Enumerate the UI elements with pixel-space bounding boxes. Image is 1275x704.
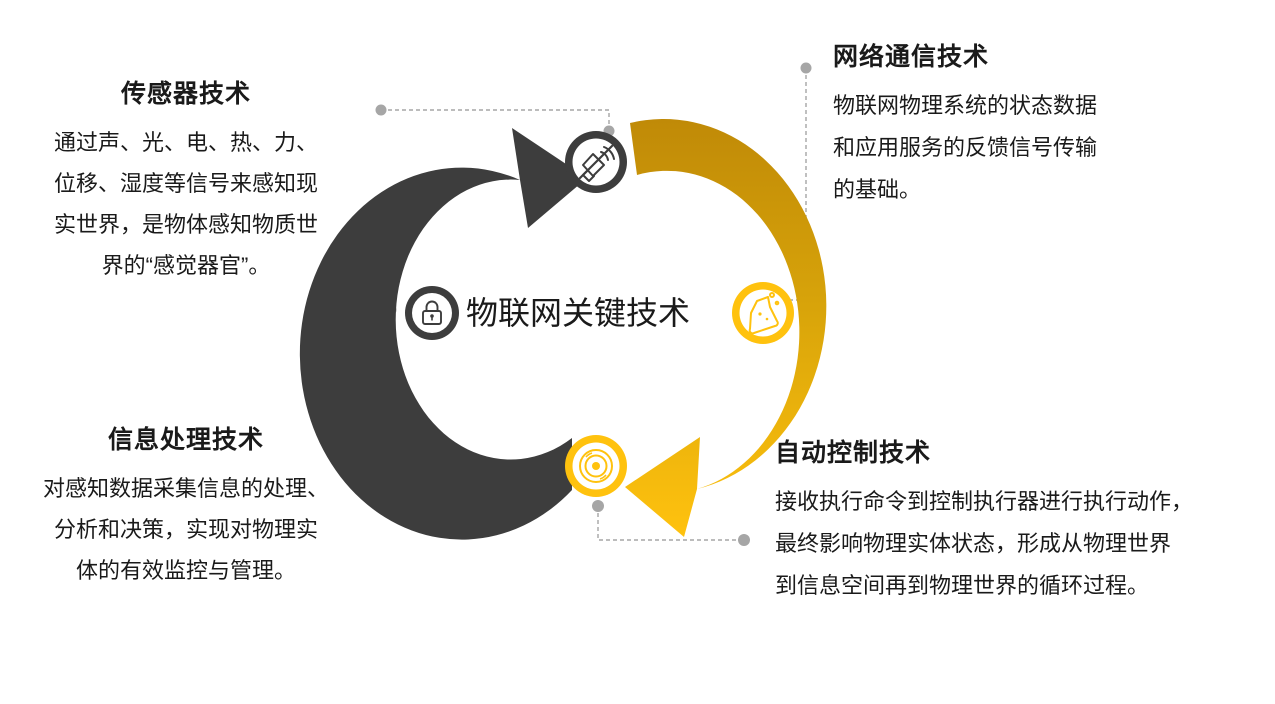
block-network-body: 物联网物理系统的状态数据 和应用服务的反馈信号传输 的基础。: [833, 85, 1233, 211]
text-line: 和应用服务的反馈信号传输: [833, 127, 1233, 169]
block-automation: 自动控制技术 接收执行命令到控制执行器进行执行动作， 最终影响物理实体状态，形成…: [775, 436, 1245, 607]
node-circle-automation[interactable]: [565, 435, 627, 497]
text-line: 对感知数据采集信息的处理、: [0, 468, 372, 509]
block-automation-title: 自动控制技术: [775, 436, 1245, 470]
block-information-body: 对感知数据采集信息的处理、 分析和决策，实现对物理实 体的有效监控与管理。: [0, 468, 372, 591]
text-line: 体的有效监控与管理。: [0, 550, 372, 591]
text-line: 的基础。: [833, 169, 1233, 211]
block-network: 网络通信技术 物联网物理系统的状态数据 和应用服务的反馈信号传输 的基础。: [833, 40, 1233, 211]
block-sensor-body: 通过声、光、电、热、力、 位移、湿度等信号来感知现 实世界，是物体感知物质世 界…: [0, 122, 372, 286]
node-circle-sensor[interactable]: [565, 131, 627, 193]
text-line: 通过声、光、电、热、力、: [0, 122, 372, 163]
connector-dot: [376, 105, 387, 116]
connector-dot: [738, 534, 750, 546]
text-line: 到信息空间再到物理世界的循环过程。: [775, 565, 1245, 607]
connector-dot: [592, 500, 604, 512]
text-line: 物联网物理系统的状态数据: [833, 85, 1233, 127]
connector-sensor: [381, 110, 609, 130]
block-sensor: 传感器技术 通过声、光、电、热、力、 位移、湿度等信号来感知现 实世界，是物体感…: [0, 78, 372, 286]
text-line: 分析和决策，实现对物理实: [0, 509, 372, 550]
block-network-title: 网络通信技术: [833, 40, 1233, 74]
text-line: 最终影响物理实体状态，形成从物理世界: [775, 523, 1245, 565]
node-circle-network[interactable]: [732, 282, 794, 344]
disc-icon: [580, 450, 612, 482]
block-information-title: 信息处理技术: [0, 424, 372, 456]
text-line: 接收执行命令到控制执行器进行执行动作，: [775, 481, 1245, 523]
text-line: 位移、湿度等信号来感知现: [0, 163, 372, 204]
center-title: 物联网关键技术: [466, 290, 690, 336]
node-circle-center[interactable]: [405, 286, 459, 340]
text-line: 界的“感觉器官”。: [0, 245, 372, 286]
text-line: 实世界，是物体感知物质世: [0, 204, 372, 245]
connector-dot: [801, 63, 812, 74]
block-sensor-title: 传感器技术: [0, 78, 372, 110]
block-automation-body: 接收执行命令到控制执行器进行执行动作， 最终影响物理实体状态，形成从物理世界 到…: [775, 481, 1245, 607]
diagram-canvas: 物联网关键技术 传感器技术 通过声、光、电、热、力、 位移、湿度等信号来感知现 …: [0, 0, 1275, 704]
block-information: 信息处理技术 对感知数据采集信息的处理、 分析和决策，实现对物理实 体的有效监控…: [0, 424, 372, 591]
